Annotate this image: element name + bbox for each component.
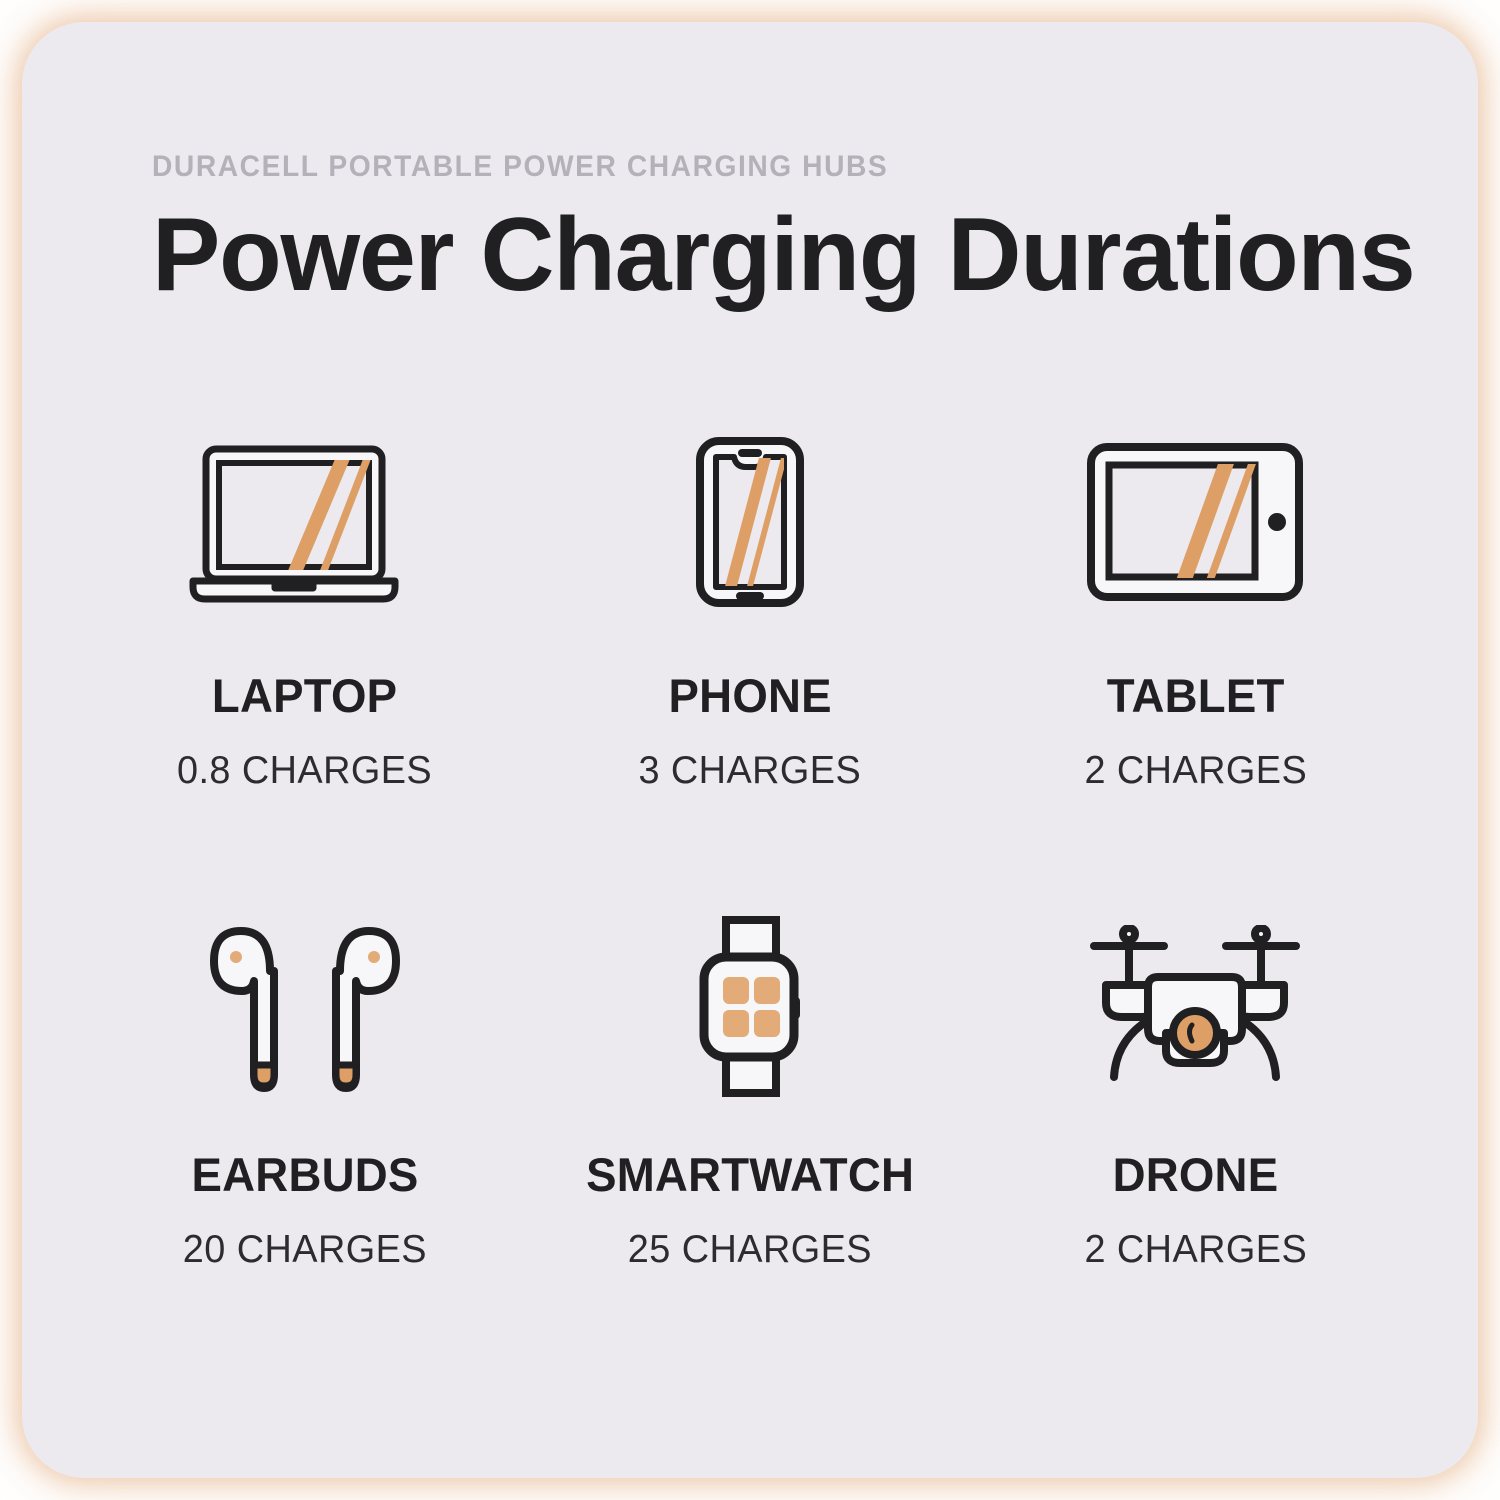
device-charges: 2 CHARGES <box>1084 1228 1307 1272</box>
phone-icon <box>694 436 806 608</box>
drone-icon <box>1088 925 1302 1087</box>
device-charges: 0.8 CHARGES <box>177 749 432 793</box>
header: DURACELL PORTABLE POWER CHARGING HUBS Po… <box>152 150 1352 313</box>
device-charges: 2 CHARGES <box>1084 749 1307 793</box>
earbuds-icon <box>208 915 402 1097</box>
brand-eyebrow: DURACELL PORTABLE POWER CHARGING HUBS <box>152 150 1280 183</box>
smartwatch-icon <box>682 915 818 1097</box>
device-charges: 25 CHARGES <box>628 1228 872 1272</box>
infographic-card: DURACELL PORTABLE POWER CHARGING HUBS Po… <box>22 22 1478 1478</box>
device-name: TABLET <box>1106 668 1284 723</box>
device-cell-drone: DRONE 2 CHARGES <box>973 911 1418 1282</box>
device-name: SMARTWATCH <box>586 1147 914 1202</box>
device-name: LAPTOP <box>212 668 397 723</box>
device-name: DRONE <box>1112 1147 1278 1202</box>
device-cell-earbuds: EARBUDS 20 CHARGES <box>82 911 527 1282</box>
drone-icon-box <box>1088 911 1302 1101</box>
device-cell-smartwatch: SMARTWATCH 25 CHARGES <box>527 911 972 1282</box>
device-grid: LAPTOP 0.8 CHARGES <box>82 422 1418 1282</box>
device-charges: 3 CHARGES <box>639 749 862 793</box>
laptop-icon <box>187 439 423 605</box>
device-cell-phone: PHONE 3 CHARGES <box>527 422 972 793</box>
laptop-icon-box <box>187 422 423 622</box>
earbuds-icon-box <box>208 911 402 1101</box>
phone-icon-box <box>694 422 806 622</box>
device-name: EARBUDS <box>191 1147 418 1202</box>
device-name: PHONE <box>668 668 831 723</box>
device-cell-tablet: TABLET 2 CHARGES <box>973 422 1418 793</box>
device-cell-laptop: LAPTOP 0.8 CHARGES <box>82 422 527 793</box>
smartwatch-icon-box <box>682 911 818 1101</box>
tablet-icon-box <box>1085 422 1305 622</box>
tablet-icon <box>1085 441 1305 603</box>
device-charges: 20 CHARGES <box>183 1228 427 1272</box>
page-title: Power Charging Durations <box>152 197 1334 313</box>
